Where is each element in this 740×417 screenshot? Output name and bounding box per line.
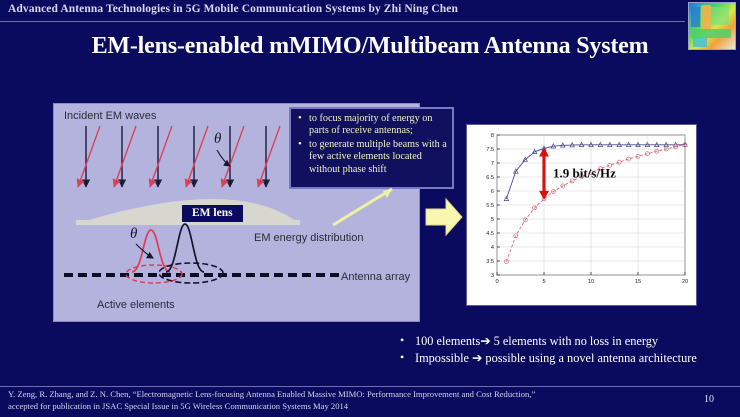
callout-item: to generate multiple beams with a few ac… (297, 139, 448, 176)
antenna-array-label: Antenna array (341, 271, 410, 283)
header-title: Advanced Antenna Technologies in 5G Mobi… (8, 3, 458, 15)
svg-text:6.5: 6.5 (486, 175, 494, 181)
incident-waves-label: Incident EM waves (64, 110, 156, 122)
svg-text:6: 6 (491, 189, 494, 195)
bullet-item: 100 elements➔ 5 elements with no loss in… (398, 333, 738, 350)
slide-root: Advanced Antenna Technologies in 5G Mobi… (0, 0, 740, 417)
svg-text:3: 3 (491, 273, 494, 279)
svg-text:5: 5 (542, 279, 545, 285)
page-number: 10 (704, 394, 714, 405)
reference-footnote: Y. Zeng, R. Zhang, and Z. N. Chen, “Elec… (8, 389, 668, 412)
callout-pointer-line (330, 185, 430, 230)
page-title: EM-lens-enabled mMIMO/Multibeam Antenna … (0, 33, 740, 60)
footer-divider (0, 386, 740, 387)
svg-text:5: 5 (491, 217, 494, 223)
svg-text:8: 8 (491, 133, 494, 139)
capacity-chart-svg: 0510152033.544.555.566.577.58 1.9 bit/s/… (467, 125, 696, 305)
svg-text:3.5: 3.5 (486, 259, 494, 265)
theta-symbol-top: θ (214, 131, 221, 148)
svg-text:7.5: 7.5 (486, 147, 494, 153)
conclusion-bullets: 100 elements➔ 5 elements with no loss in… (398, 333, 738, 366)
footnote-line-1: Y. Zeng, R. Zhang, and Z. N. Chen, “Elec… (8, 389, 668, 401)
active-elements-label: Active elements (97, 299, 175, 311)
svg-text:0: 0 (495, 279, 498, 285)
bullet-item: Impossible ➔ possible using a novel ante… (398, 350, 738, 367)
footnote-line-2: accepted for publication in JSAC Special… (8, 401, 668, 413)
svg-text:10: 10 (588, 279, 594, 285)
svg-text:7: 7 (491, 161, 494, 167)
svg-text:15: 15 (635, 279, 641, 285)
benefits-callout: to focus majority of energy on parts of … (289, 107, 454, 189)
svg-text:20: 20 (682, 279, 688, 285)
svg-text:1.9 bit/s/Hz: 1.9 bit/s/Hz (553, 166, 616, 181)
yellow-right-arrow-icon (424, 196, 464, 238)
theta-symbol-bottom: θ (130, 226, 137, 243)
svg-text:4: 4 (491, 245, 494, 251)
energy-distribution-label: EM energy distribution (254, 232, 363, 244)
svg-text:5.5: 5.5 (486, 203, 494, 209)
capacity-chart: 0510152033.544.555.566.577.58 1.9 bit/s/… (466, 124, 697, 306)
svg-text:4.5: 4.5 (486, 231, 494, 237)
callout-item: to focus majority of energy on parts of … (297, 113, 448, 138)
header-divider (0, 21, 685, 22)
slide-header: Advanced Antenna Technologies in 5G Mobi… (0, 0, 740, 22)
em-lens-label: EM lens (182, 205, 243, 222)
